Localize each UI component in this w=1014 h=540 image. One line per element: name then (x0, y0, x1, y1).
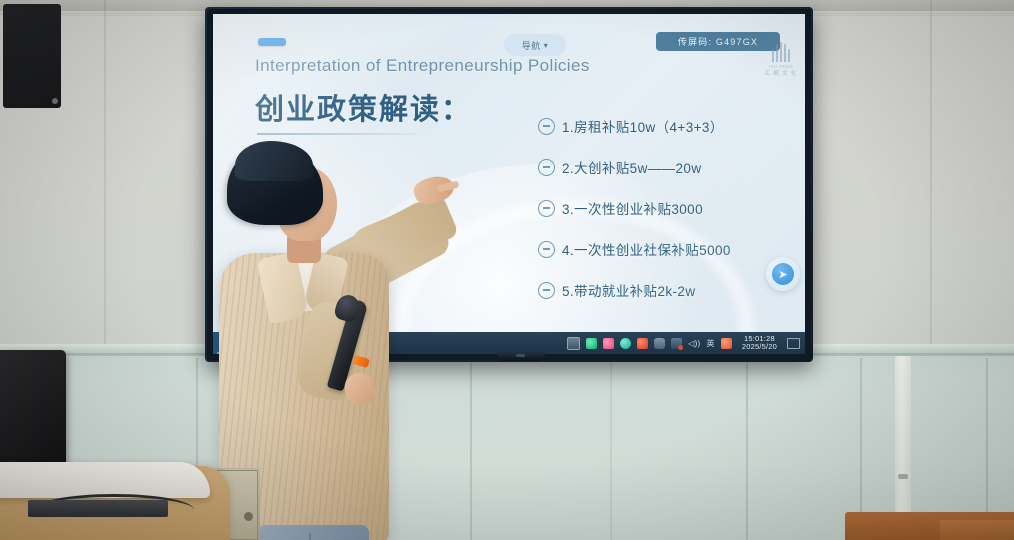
chat-bubble-icon[interactable] (654, 338, 665, 349)
list-item: 4.一次性创业社保补贴5000 (538, 239, 788, 259)
brand-watermark: HUI FENG 汇 枫 文 化 (760, 42, 802, 77)
app-red-icon[interactable] (637, 338, 648, 349)
tablet-icon[interactable] (567, 337, 580, 350)
door-knob[interactable] (898, 474, 908, 479)
floating-action-button[interactable]: ➤ (766, 257, 800, 291)
app-orange-icon[interactable] (721, 338, 732, 349)
jeans-seam (309, 533, 311, 540)
hair-highlight (235, 141, 313, 181)
slide-title: 创业政策解读： (255, 86, 472, 128)
list-item: 2.大创补贴5w——20w (538, 157, 788, 177)
notification-badge-icon[interactable] (671, 338, 682, 349)
slide-accent-bar (258, 38, 286, 46)
list-item: 5.带动就业补贴2k-2w (538, 280, 788, 300)
list-item-label: 4.一次性创业社保补贴5000 (562, 239, 731, 259)
wall-seam (930, 0, 932, 352)
slide-subtitle: Interpretation of Entrepreneurship Polic… (255, 56, 590, 76)
system-tray: ◁)) 英 15:01:28 2025/5/20 (567, 332, 805, 354)
show-desktop-icon[interactable] (787, 338, 800, 349)
circle-minus-icon (538, 159, 555, 176)
cast-code-text: 传屏码: G497GX (678, 35, 758, 48)
panel-seam (610, 358, 612, 540)
panel-seam (746, 358, 748, 540)
list-item-label: 5.带动就业补贴2k-2w (562, 280, 695, 300)
lectern-monitor-screen (3, 4, 61, 108)
wall-seam (104, 0, 106, 352)
circle-minus-icon (538, 118, 555, 135)
lectern-monitor (0, 350, 66, 470)
taskbar-clock[interactable]: 15:01:28 2025/5/20 (738, 335, 781, 351)
monitor-power-led (52, 98, 58, 104)
circle-minus-icon (538, 241, 555, 258)
list-item-label: 2.大创补贴5w——20w (562, 157, 701, 177)
clock-date: 2025/5/20 (742, 343, 777, 351)
podium-worktop (0, 462, 210, 498)
app-pink-icon[interactable] (603, 338, 614, 349)
circle-minus-icon (538, 200, 555, 217)
jeans (257, 525, 369, 540)
rocket-launch-icon: ➤ (772, 263, 794, 285)
list-item: 1.房租补贴10w（4+3+3） (538, 116, 788, 136)
display-sensor-led (516, 354, 525, 357)
list-item: 3.一次性创业补贴3000 (538, 198, 788, 218)
volume-icon[interactable]: ◁)) (688, 339, 700, 348)
classroom-scene: 导航 ▾ 传屏码: G497GX HUI FENG 汇 枫 文 化 Interp… (0, 0, 1014, 540)
nav-dropdown[interactable]: 导航 ▾ (504, 34, 566, 56)
right-desk-front (940, 520, 1014, 540)
brand-logo-icon (760, 42, 802, 62)
keyboard[interactable] (28, 500, 168, 517)
brand-line-2: 汇 枫 文 化 (760, 69, 802, 77)
app-green-icon[interactable] (586, 338, 597, 349)
policy-bullet-list: 1.房租补贴10w（4+3+3） 2.大创补贴5w——20w 3.一次性创业补贴… (538, 116, 788, 321)
nav-dropdown-label: 导航 (522, 39, 541, 52)
list-item-label: 3.一次性创业补贴3000 (562, 198, 703, 218)
app-teal-icon[interactable] (620, 338, 631, 349)
panel-seam (470, 358, 472, 540)
ime-icon[interactable]: 英 (707, 338, 715, 349)
chevron-down-icon: ▾ (544, 41, 549, 50)
cabinet-knob[interactable] (244, 512, 253, 521)
list-item-label: 1.房租补贴10w（4+3+3） (562, 116, 724, 136)
circle-minus-icon (538, 282, 555, 299)
